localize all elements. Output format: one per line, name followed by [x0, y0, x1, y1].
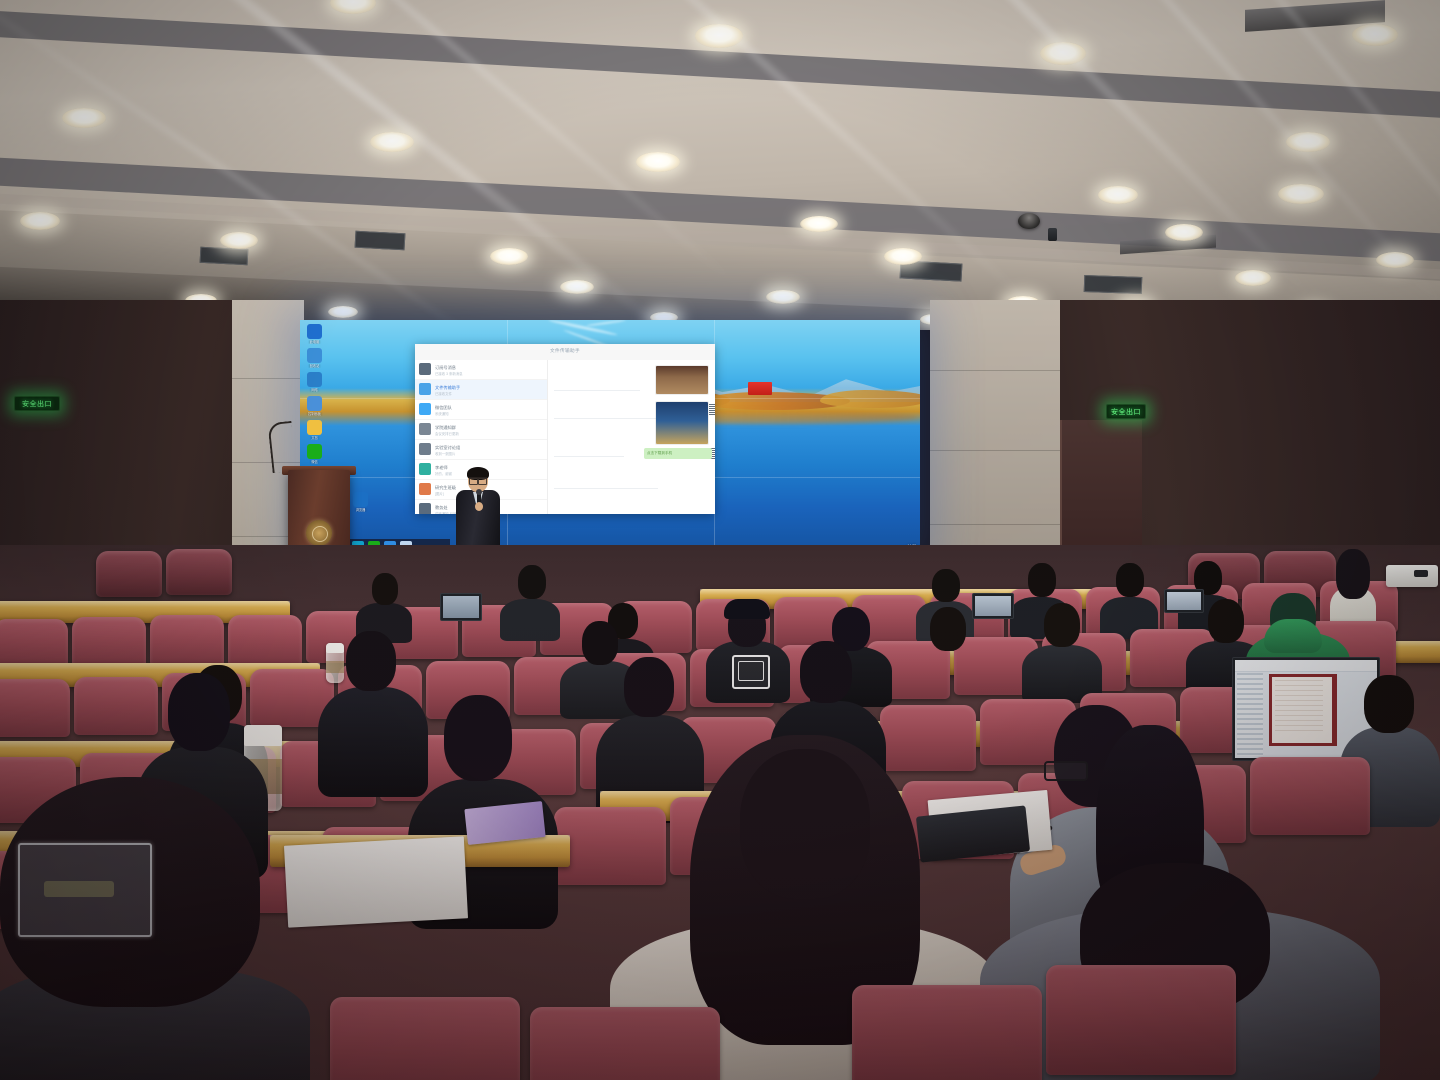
seat[interactable]	[150, 615, 224, 667]
seat[interactable]	[0, 679, 70, 737]
ceiling-downlight	[1098, 186, 1138, 204]
ceiling-vent	[355, 231, 406, 251]
ceiling-downlight	[1040, 42, 1086, 65]
ceiling-downlight	[370, 132, 414, 152]
desktop-icon[interactable]: 文档	[306, 420, 323, 440]
list-item-sub: 已接收 3 条新消息	[435, 371, 463, 376]
list-item-sub: 收到一张图片	[435, 451, 455, 456]
seat-front[interactable]	[852, 985, 1042, 1080]
ceiling-downlight	[766, 290, 800, 304]
message-pane: 点击下载到手机	[548, 360, 715, 514]
ceiling-downlight	[1286, 132, 1330, 152]
student-row-b	[910, 605, 988, 703]
audience-seating-area	[0, 545, 1440, 1080]
ceiling-downlight	[695, 24, 743, 48]
desktop-icon-label: 微信	[306, 460, 323, 464]
ceiling-trim-band	[0, 5, 1440, 126]
gooseneck-microphone	[268, 420, 294, 472]
browser-icon	[353, 492, 368, 507]
hair-clip-bar	[44, 881, 114, 897]
student-back-row	[500, 565, 560, 637]
seat[interactable]	[166, 549, 232, 595]
ceiling-downlight	[800, 216, 838, 232]
qr-code-icon	[709, 404, 715, 415]
hood	[1264, 619, 1322, 653]
desktop-icon-label: 此电脑	[306, 340, 323, 344]
lecture-hall-photo: 安全出口 安全出口	[0, 0, 1440, 1080]
desktop-icon[interactable]: 网络	[306, 372, 323, 392]
list-item-sub: 已接收文件	[435, 391, 452, 396]
contact-avatar	[419, 423, 431, 435]
list-item-sub: [图片]	[435, 491, 444, 496]
recycle-bin-icon	[307, 348, 322, 363]
exit-sign-right: 安全出口	[1106, 404, 1146, 419]
list-item-sub: 讲座通知 已读	[435, 511, 456, 514]
baseball-cap	[724, 599, 770, 619]
desktop-icon[interactable]: 微信	[306, 444, 323, 464]
foreground-woman-hairclip	[0, 777, 330, 1080]
seat[interactable]	[228, 615, 302, 667]
list-item[interactable]: 实验室讨论组 收到一张图片	[415, 440, 547, 460]
message-photo-thumbnail[interactable]	[656, 366, 708, 394]
list-item-sub: 系统通知	[435, 411, 449, 416]
ceiling-downlight	[636, 152, 680, 172]
network-icon	[307, 372, 322, 387]
desktop-icon[interactable]: 回收站	[306, 348, 323, 368]
ceiling-vent	[1084, 275, 1143, 294]
ceiling-vent	[200, 247, 249, 265]
list-item-sub: 好的，谢谢	[435, 471, 452, 476]
desktop-icon-label: 回收站	[306, 364, 323, 368]
eyeglasses-icon	[1044, 761, 1088, 781]
contact-avatar	[419, 383, 431, 395]
contact-avatar	[419, 503, 431, 514]
download-button[interactable]: 点击下载到手机	[644, 448, 712, 459]
exit-sign-label: 安全出口	[22, 399, 52, 409]
university-seal-emblem	[306, 520, 332, 546]
ceiling-downlight	[330, 0, 376, 14]
presenter-hand	[475, 502, 483, 511]
computer-icon	[307, 324, 322, 339]
led-video-wall[interactable]: 此电脑 回收站 网络 控制面板 文档 微信 腾讯会议 WPS O	[300, 320, 920, 555]
desktop-icon[interactable]: 浏览器	[352, 492, 369, 512]
seat-front[interactable]	[1046, 965, 1236, 1075]
student-back-row	[356, 571, 412, 637]
seat[interactable]	[72, 617, 146, 669]
desktop-icon[interactable]: 控制面板	[306, 396, 323, 416]
student-back-row	[1100, 563, 1158, 635]
contact-avatar	[419, 403, 431, 415]
documents-folder-icon	[307, 420, 322, 435]
contact-avatar	[419, 363, 431, 375]
ceiling	[0, 0, 1440, 330]
seat[interactable]	[96, 551, 162, 597]
ceiling-speaker	[1048, 228, 1057, 241]
control-panel-icon	[307, 396, 322, 411]
window-title: 文件传输助手	[550, 348, 580, 354]
ceiling-downlight	[1278, 184, 1324, 204]
ceiling-downlight	[1165, 224, 1203, 241]
contact-avatar	[419, 463, 431, 475]
ceiling-downlight	[490, 248, 528, 265]
dome-security-camera	[1018, 213, 1040, 229]
contact-avatar	[419, 483, 431, 495]
ceiling-downlight	[20, 212, 60, 230]
list-item-sub: 会议安排已更新	[435, 431, 459, 436]
ceiling-downlight	[220, 232, 258, 249]
eyeglasses-icon	[469, 477, 487, 483]
ceiling-downlight	[62, 108, 106, 128]
desktop-icon-label: 网络	[306, 388, 323, 392]
desktop-icon-label: 控制面板	[306, 412, 323, 416]
student-row-b	[1022, 601, 1102, 701]
list-item[interactable]: 微信团队 系统通知	[415, 400, 547, 420]
window-titlebar[interactable]: 文件传输助手	[415, 344, 715, 361]
seat[interactable]	[1250, 757, 1370, 835]
ceiling-downlight	[1376, 252, 1414, 268]
message-photo-thumbnail[interactable]	[656, 402, 708, 444]
list-item[interactable]: 订阅号消息 已接收 3 条新消息	[415, 360, 547, 380]
exit-sign-label: 安全出口	[1111, 407, 1141, 417]
download-button-label: 点击下载到手机	[647, 451, 672, 456]
seat-front[interactable]	[530, 1007, 720, 1080]
list-item[interactable]: 文件传输助手 已接收文件	[415, 380, 547, 400]
desktop-icon[interactable]: 此电脑	[306, 324, 323, 344]
laptop[interactable]	[440, 593, 482, 621]
red-banner	[748, 382, 772, 395]
list-item[interactable]: 学院通知群 会议安排已更新	[415, 420, 547, 440]
wechat-icon	[307, 444, 322, 459]
seat-front[interactable]	[330, 997, 520, 1080]
exit-sign-left: 安全出口	[14, 396, 60, 411]
desktop-icon-label: 浏览器	[352, 508, 369, 512]
desktop-icon-label: 文档	[306, 436, 323, 440]
tv-graphic-print	[732, 655, 770, 689]
contact-avatar	[419, 443, 431, 455]
ceiling-downlight	[1352, 24, 1398, 46]
projector-unit	[1386, 565, 1438, 587]
ceiling-downlight	[560, 280, 594, 294]
ceiling-downlight	[884, 248, 922, 265]
ceiling-downlight	[328, 306, 358, 318]
ceiling-downlight	[1235, 270, 1271, 286]
